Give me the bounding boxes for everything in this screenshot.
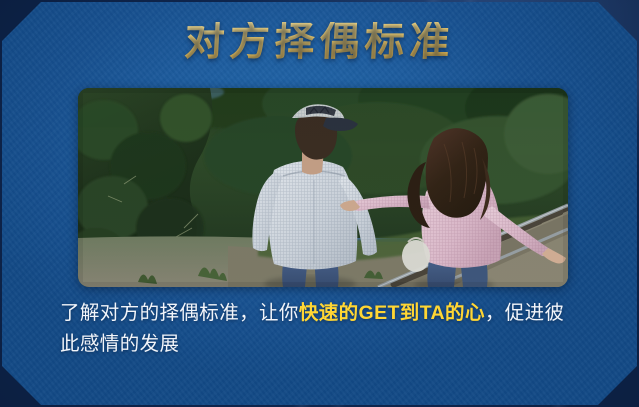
hero-photo [78,88,568,287]
poster-root: 对方择偶标准 [0,0,639,407]
caption-segment-highlight: 快速的GET到TA的心 [299,302,485,324]
page-title: 对方择偶标准 [0,22,639,62]
caption-text: 了解对方的择偶标准，让你快速的GET到TA的心，促进彼此感情的发展 [60,298,579,360]
caption-segment-1: 了解对方的择偶标准，让你 [60,302,299,324]
hero-photo-illustration [78,88,568,287]
